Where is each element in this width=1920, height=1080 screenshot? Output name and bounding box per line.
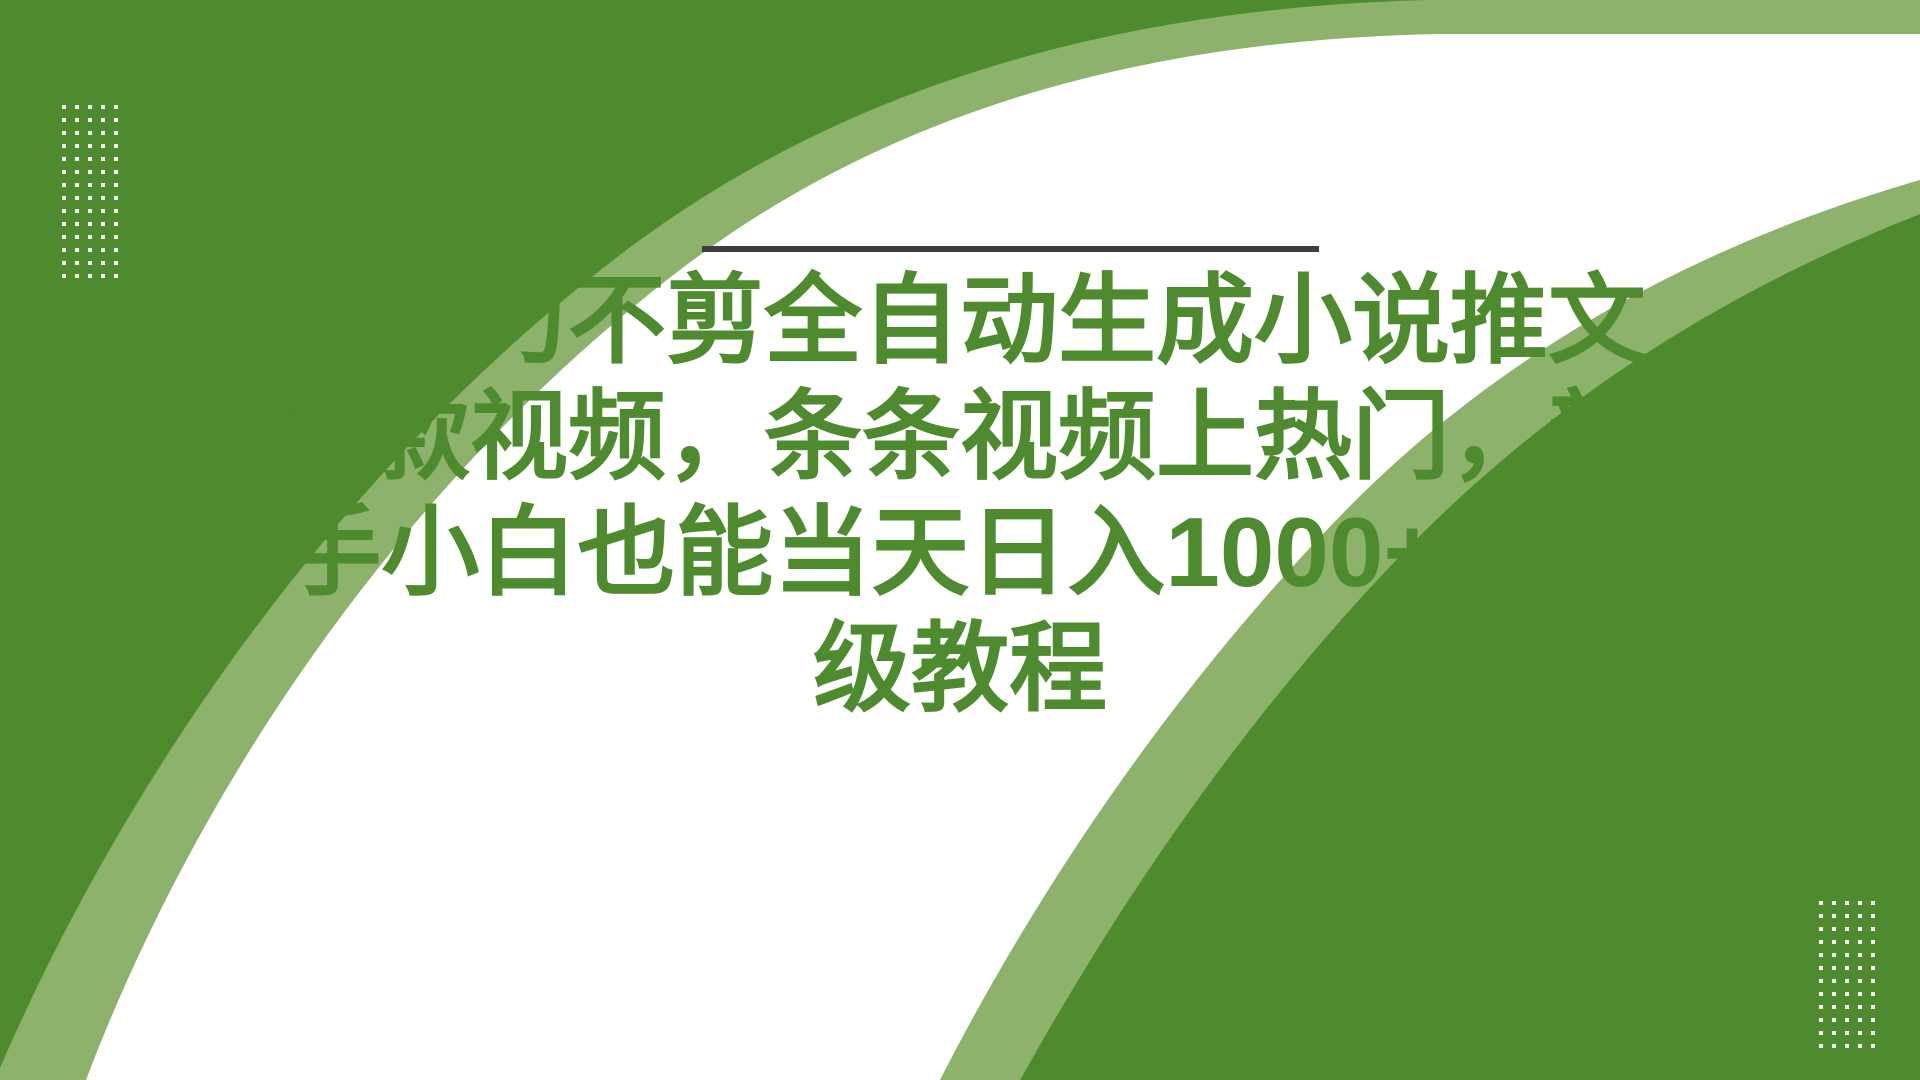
dot — [75, 144, 79, 148]
dot — [75, 157, 79, 161]
dot — [62, 183, 66, 187]
dot — [75, 274, 79, 278]
dot — [88, 209, 92, 213]
dot — [1845, 940, 1849, 944]
dot — [101, 222, 105, 226]
dot — [114, 131, 118, 135]
dot — [88, 144, 92, 148]
dot — [62, 131, 66, 135]
dot — [62, 248, 66, 252]
dot — [114, 235, 118, 239]
dot — [88, 131, 92, 135]
dot — [88, 274, 92, 278]
dot — [1845, 992, 1849, 996]
dot — [62, 170, 66, 174]
dot — [62, 274, 66, 278]
dot — [101, 183, 105, 187]
dot — [88, 196, 92, 200]
dot — [1845, 914, 1849, 918]
dot — [1832, 940, 1836, 944]
dot — [1858, 1018, 1862, 1022]
dot — [1858, 1031, 1862, 1035]
dot — [1832, 992, 1836, 996]
dot — [114, 170, 118, 174]
dot — [114, 118, 118, 122]
dot — [101, 261, 105, 265]
dot — [1845, 1018, 1849, 1022]
dot — [75, 183, 79, 187]
dot — [1871, 914, 1875, 918]
dot — [62, 105, 66, 109]
dot — [1819, 953, 1823, 957]
dot — [1832, 1031, 1836, 1035]
dot — [101, 248, 105, 252]
dot — [1845, 1005, 1849, 1009]
dot — [62, 222, 66, 226]
dot — [1871, 1005, 1875, 1009]
dot — [101, 209, 105, 213]
dot — [1845, 927, 1849, 931]
dot — [1871, 927, 1875, 931]
dot — [1845, 1044, 1849, 1048]
dot — [88, 222, 92, 226]
dot — [114, 105, 118, 109]
dot — [88, 118, 92, 122]
dot — [62, 118, 66, 122]
dot — [1832, 1018, 1836, 1022]
poster-canvas: AI一刀不剪全自动生成小说推文爆款视频，条条视频上热门，新手小白也能当天日入10… — [0, 0, 1920, 1080]
dot — [101, 131, 105, 135]
dot — [1871, 992, 1875, 996]
dot — [88, 248, 92, 252]
dot — [62, 144, 66, 148]
page-title: AI一刀不剪全自动生成小说推文爆款视频，条条视频上热门，新手小白也能当天日入10… — [240, 262, 1680, 726]
dot — [75, 209, 79, 213]
dot — [1871, 953, 1875, 957]
dot — [1819, 940, 1823, 944]
dot — [88, 105, 92, 109]
dot — [75, 261, 79, 265]
dot-grid-top-left — [62, 105, 127, 287]
dot — [62, 235, 66, 239]
dot — [1832, 1005, 1836, 1009]
dot — [101, 157, 105, 161]
dot — [114, 183, 118, 187]
dot — [75, 235, 79, 239]
dot — [114, 196, 118, 200]
dot — [114, 248, 118, 252]
dot — [1819, 1018, 1823, 1022]
dot — [1832, 966, 1836, 970]
dot — [114, 261, 118, 265]
dot — [101, 118, 105, 122]
dot — [1819, 914, 1823, 918]
title-divider-rule — [702, 246, 1319, 252]
dot — [1819, 992, 1823, 996]
dot — [75, 170, 79, 174]
dot — [1832, 1044, 1836, 1048]
dot — [1819, 1044, 1823, 1048]
dot — [1832, 979, 1836, 983]
dot — [1858, 1005, 1862, 1009]
dot — [1858, 966, 1862, 970]
dot — [75, 222, 79, 226]
dot — [1845, 1031, 1849, 1035]
dot — [1832, 901, 1836, 905]
dot — [88, 261, 92, 265]
dot — [101, 105, 105, 109]
dot — [1858, 927, 1862, 931]
dot — [1871, 940, 1875, 944]
dot — [1819, 901, 1823, 905]
dot — [62, 261, 66, 265]
dot — [88, 157, 92, 161]
dot — [62, 209, 66, 213]
dot — [114, 144, 118, 148]
dot — [1845, 953, 1849, 957]
dot — [75, 248, 79, 252]
dot — [1858, 953, 1862, 957]
dot — [1819, 966, 1823, 970]
dot — [1858, 940, 1862, 944]
dot — [88, 170, 92, 174]
dot — [1858, 914, 1862, 918]
dot — [62, 157, 66, 161]
dot — [1871, 979, 1875, 983]
dot — [1858, 992, 1862, 996]
dot — [1819, 1005, 1823, 1009]
dot — [62, 196, 66, 200]
dot — [75, 196, 79, 200]
dot — [114, 222, 118, 226]
dot — [1871, 966, 1875, 970]
dot — [1871, 1044, 1875, 1048]
dot — [1845, 966, 1849, 970]
dot — [1819, 927, 1823, 931]
dot — [101, 235, 105, 239]
dot — [114, 209, 118, 213]
dot — [88, 183, 92, 187]
dot — [88, 235, 92, 239]
dot — [1858, 1044, 1862, 1048]
dot — [1858, 979, 1862, 983]
dot — [101, 144, 105, 148]
dot — [101, 274, 105, 278]
dot — [114, 274, 118, 278]
dot — [1832, 914, 1836, 918]
dot — [1832, 927, 1836, 931]
dot — [101, 170, 105, 174]
dot — [1871, 1031, 1875, 1035]
dot — [75, 118, 79, 122]
dot-grid-bottom-right — [1819, 901, 1884, 1057]
dot — [1871, 901, 1875, 905]
dot — [1832, 953, 1836, 957]
dot — [1845, 901, 1849, 905]
dot — [1871, 1018, 1875, 1022]
dot — [1858, 901, 1862, 905]
dot — [114, 157, 118, 161]
dot — [101, 196, 105, 200]
dot — [1845, 979, 1849, 983]
dot — [1819, 1031, 1823, 1035]
dot — [75, 105, 79, 109]
dot — [75, 131, 79, 135]
dot — [1819, 979, 1823, 983]
